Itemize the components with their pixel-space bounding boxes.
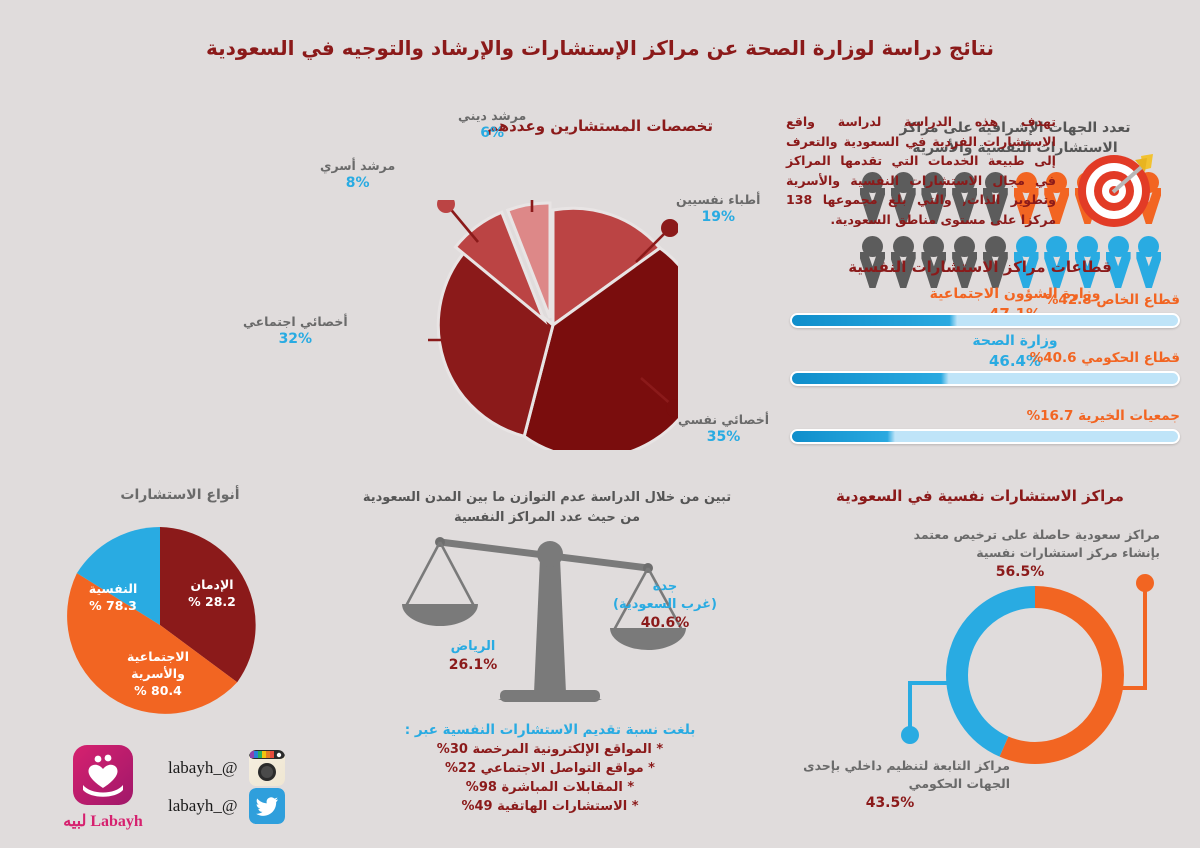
donut-leader-dot-internal — [901, 726, 919, 744]
sector-bar-charity-track — [790, 429, 1180, 444]
sector-bar-charity-fill — [792, 431, 1178, 442]
specialists-pie-chart: مرشد ديني 6% مرشد أسري 8% أطباء نفسيين 1… — [428, 200, 678, 450]
donut-leader-dot-licensed — [1136, 574, 1154, 592]
channel-item: * مواقع التواصل الاجتماعي 22% — [370, 760, 730, 779]
pie-label-family-counselor: مرشد أسري 8% — [320, 158, 395, 192]
instagram-row[interactable]: @_labayh — [168, 750, 285, 786]
sector-bar-private-fill — [792, 315, 1178, 326]
channels-heading: بلغت نسبة تقديم الاستشارات النفسية عبر : — [370, 722, 730, 738]
twitter-row[interactable]: @_labayh — [168, 788, 285, 824]
brand-block: Labayh لبيه — [48, 745, 158, 831]
sector-bar-private-track — [790, 313, 1180, 328]
twitter-handle[interactable]: @_labayh — [168, 796, 237, 816]
brand-name: Labayh لبيه — [48, 811, 158, 831]
types-pie-chart: الإدمان 28.2 % الاجتماعية والأسرية 80.4 … — [60, 525, 260, 725]
pie-label-psychologist: أخصائي نفسي 35% — [678, 412, 769, 446]
legend-ministry-health-label: وزارة الصحة — [860, 332, 1170, 351]
channels-list: بلغت نسبة تقديم الاستشارات النفسية عبر :… — [370, 722, 730, 816]
balance-label-jeddah: جدة (غرب السعودية) 40.6% — [610, 578, 720, 634]
balance-label-jeddah-value: 40.6% — [610, 614, 720, 634]
labayh-app-icon — [73, 745, 133, 805]
sector-bar-government: قطاع الحكومي 40.6% — [790, 350, 1180, 386]
target-icon — [1073, 150, 1155, 232]
balance-description: تبين من خلال الدراسة عدم التوازن ما بين … — [352, 488, 742, 527]
sector-bar-government-label: قطاع الحكومي 40.6% — [790, 350, 1180, 366]
licensing-label-licensed-text: مراكز سعودية حاصلة على ترخيص معتمد بإنشا… — [914, 527, 1160, 560]
sector-bar-government-fill — [792, 373, 1178, 384]
types-label-addiction: الإدمان 28.2 % — [170, 577, 254, 611]
infographic-canvas: نتائج دراسة لوزارة الصحة عن مراكز الإستش… — [0, 0, 1200, 848]
sectors-section-title: قطاعات مراكز الاستشارات النفسية — [770, 258, 1190, 276]
page-title: نتائج دراسة لوزارة الصحة عن مراكز الإستش… — [0, 36, 1200, 60]
balance-label-jeddah-sub: (غرب السعودية) — [610, 596, 720, 614]
sector-bar-charity-label: جمعيات الخيرية 16.7% — [790, 408, 1180, 424]
sector-bar-private: قطاع الخاص 42.8% — [790, 292, 1180, 328]
scale-pivot — [537, 541, 563, 567]
sector-bar-charity: جمعيات الخيرية 16.7% — [790, 408, 1180, 444]
licensing-label-internal-value: 43.5% — [770, 793, 1010, 813]
types-label-psychological: النفسية 78.3 % — [70, 581, 156, 615]
twitter-icon[interactable] — [249, 788, 285, 824]
licensing-label-licensed: مراكز سعودية حاصلة على ترخيص معتمد بإنشا… — [880, 526, 1160, 583]
instagram-handle[interactable]: @_labayh — [168, 758, 237, 778]
types-chart-title: أنواع الاستشارات — [0, 487, 360, 503]
balance-label-jeddah-name: جدة — [610, 578, 720, 596]
scale-left-cord-b — [440, 542, 474, 606]
channel-item: * المقابلات المباشرة 98% — [370, 779, 730, 798]
balance-label-riyadh: الرياض 26.1% — [418, 638, 528, 676]
licensing-donut-chart — [940, 580, 1130, 770]
balance-label-riyadh-name: الرياض — [418, 638, 528, 656]
instagram-icon[interactable] — [249, 750, 285, 786]
pie-label-social-specialist: أخصائي اجتماعي 32% — [243, 314, 348, 348]
sector-bar-government-track — [790, 371, 1180, 386]
scale-left-cord-a — [406, 542, 440, 606]
balance-label-riyadh-value: 26.1% — [418, 656, 528, 676]
sector-bar-private-label: قطاع الخاص 42.8% — [790, 292, 1180, 308]
scale-left-pan — [402, 604, 478, 626]
channel-item: * المواقع الإلكترونية المرخصة 30% — [370, 741, 730, 760]
pie-label-religious-counselor: مرشد ديني 6% — [458, 108, 526, 142]
licensing-chart-title: مراكز الاستشارات نفسية في السعودية — [770, 487, 1190, 505]
scale-column — [534, 558, 566, 693]
channel-item: * الاستشارات الهاتفية 49% — [370, 798, 730, 817]
intro-paragraph: تهدف هذه الدراسة لدراسة واقع الاستشارات … — [786, 112, 1056, 229]
pie-label-psychiatrists: أطباء نفسيين 19% — [676, 192, 760, 226]
types-label-social-family: الاجتماعية والأسرية 80.4 % — [106, 649, 210, 700]
